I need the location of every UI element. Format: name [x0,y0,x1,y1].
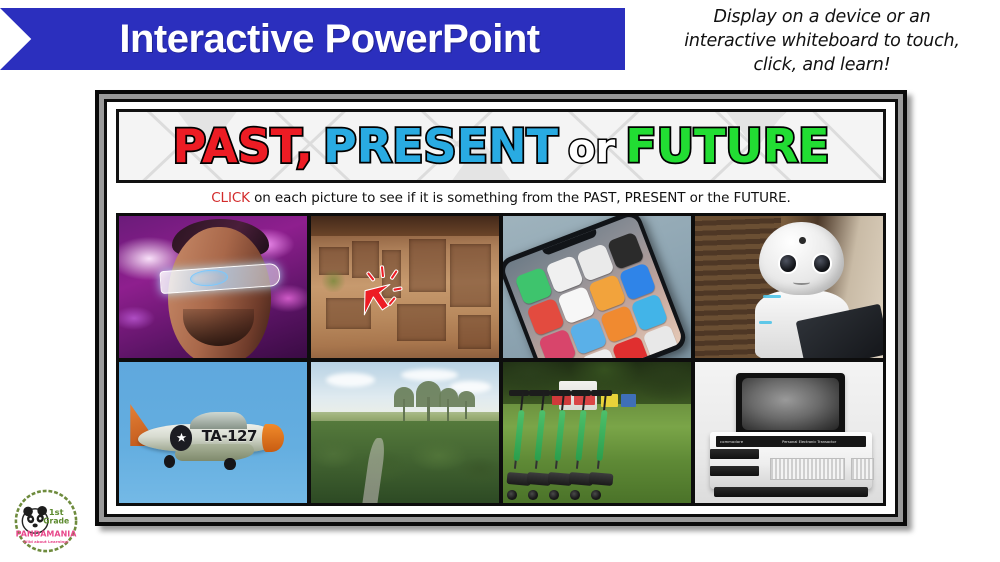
vintage-airplane-photo: TA-127 [119,362,307,504]
supertree [439,388,458,406]
picture-supertree-gardens[interactable] [311,362,499,504]
scooter-green-panel [555,409,567,460]
supertree-gardens-photo [311,362,499,504]
ancient-ruins-photo [311,216,499,358]
plane-star-roundel [170,425,193,450]
vintage-computer-photo: commodore Personal Electronic Transactor [695,362,883,504]
scooter [589,390,613,500]
note-line-1: Display on a device or an [648,5,996,29]
ruins-overhang [311,216,499,236]
robot-photo [695,216,883,358]
computer-keyboard [770,458,845,481]
scooter-green-panel [513,409,525,460]
computer-base-foot [714,487,868,497]
ruin-block [326,298,371,329]
computer-crt-screen [742,378,839,430]
cloud [326,373,375,387]
star-icon [176,432,187,443]
supertree [458,391,475,407]
picture-vintage-computer[interactable]: commodore Personal Electronic Transactor [695,362,883,504]
electric-scooters-photo [503,362,691,504]
scooter-wheel [528,490,538,500]
logo-line-3: PANDAMANIA [16,529,78,538]
computer-disk-drive [710,466,759,476]
computer-monitor [736,373,845,435]
robot-led-strip [763,295,782,298]
scooter-wheel [570,490,580,500]
scooter-handlebar [529,390,550,397]
title-word-or: or [568,129,615,169]
title-word-present: PRESENT [323,123,558,169]
computer-disk-drive [710,449,759,459]
logo-tagline: Wild about Learning! [23,539,69,544]
picture-ar-glasses[interactable] [119,216,307,358]
phone-body [503,216,690,358]
ruin-block [409,239,447,293]
display-instructions-note: Display on a device or an interactive wh… [648,5,996,77]
picture-vintage-airplane[interactable]: TA-127 [119,362,307,504]
banner-title: Interactive PowerPoint [85,17,539,62]
slide-canvas: PAST,PRESENTorFUTURE CLICK on each pictu… [107,102,895,514]
scooter-handlebar [509,390,530,397]
slide-frame-inner-border: PAST,PRESENTorFUTURE CLICK on each pictu… [104,99,898,517]
supertree [394,387,415,407]
scooter-green-panel [534,409,546,460]
picture-smartphone[interactable] [503,216,691,358]
note-line-3: click, and learn! [648,53,996,77]
computer-brand-text: commodore [720,440,743,444]
logo-line-1: 1st [49,507,64,517]
picture-grid: TA-127 [116,213,886,506]
plane-tail-code: TA-127 [202,427,257,445]
plane-wheel [224,458,235,471]
phone-app-grid [511,227,683,357]
scooter-wheel [549,490,559,500]
ruin-block [352,241,378,278]
plane-nose-cowl [262,424,285,452]
instruction-click-word: CLICK [211,190,250,206]
note-line-2: interactive whiteboard to touch, [648,29,996,53]
smartphone-photo [503,216,691,358]
computer-model-text: Personal Electronic Transactor [782,440,836,444]
picture-electric-scooters[interactable] [503,362,691,504]
ruin-block [450,244,491,306]
scooter-wheel [591,490,601,500]
ruin-block [397,304,446,341]
picture-robot[interactable] [695,216,883,358]
cloud [450,381,491,392]
background-banner [621,394,636,407]
picture-ancient-ruins[interactable] [311,216,499,358]
robot-led-strip [759,321,772,324]
scooter-handlebar [550,390,571,397]
scooter-wheel [507,490,517,500]
robot-mouth [793,280,810,285]
interactive-powerpoint-banner: Interactive PowerPoint [0,8,625,70]
computer-numeric-keypad [851,458,874,481]
scooter-green-panel [575,409,587,460]
scooter-handlebar [591,390,612,397]
supertree [416,381,440,406]
slide-title-bar: PAST,PRESENTorFUTURE [116,109,886,183]
pandamania-logo: 1st Grade PANDAMANIA Wild about Learning… [14,489,78,553]
scooter-green-panel [596,409,608,460]
logo-line-2: Grade [43,517,69,526]
scooter-handlebar [571,390,592,397]
gardens-tree-canopy [311,421,499,503]
slide-frame: PAST,PRESENTorFUTURE CLICK on each pictu… [95,90,907,526]
instruction-row: CLICK on each picture to see if it is so… [116,183,886,213]
title-word-future: FUTURE [625,123,829,169]
ruins-shrub [320,270,346,293]
ruin-block [458,315,492,349]
instruction-text: CLICK on each picture to see if it is so… [211,190,791,206]
plane-wheel [164,455,175,468]
page-title: PAST,PRESENTorFUTURE [172,123,829,169]
title-word-past: PAST, [172,123,313,169]
ar-glasses-photo [119,216,307,358]
slide-frame-bevel: PAST,PRESENTorFUTURE CLICK on each pictu… [99,94,903,522]
phone-screen [503,216,684,358]
scooter-deck [589,472,614,486]
cloud [401,369,457,382]
robot-eye-right [812,253,833,274]
instruction-rest: on each picture to see if it is somethin… [250,190,791,206]
ruin-block [382,250,401,298]
computer-brand-label: commodore Personal Electronic Transactor [716,436,866,447]
